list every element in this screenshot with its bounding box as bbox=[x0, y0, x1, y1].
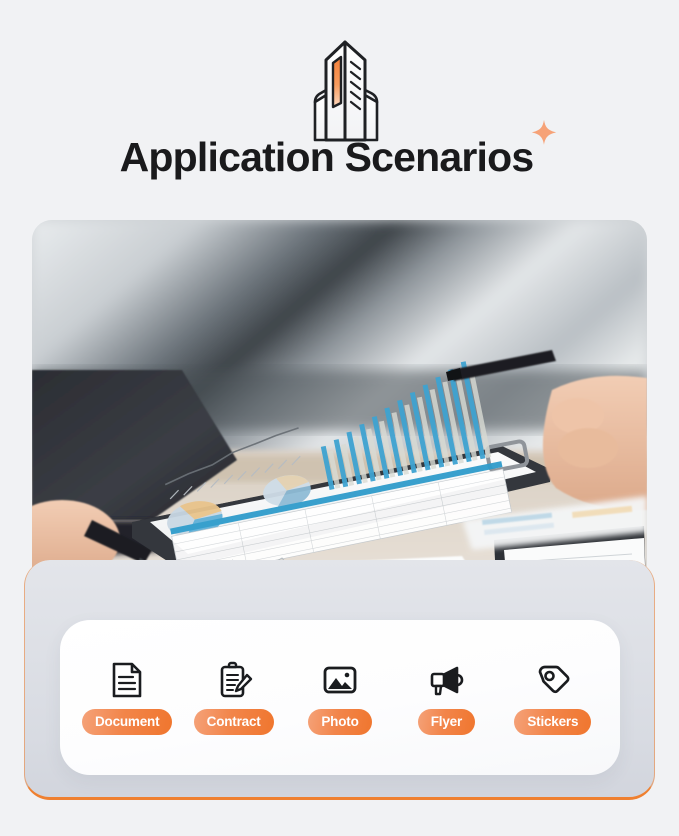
page-title: Application Scenarios bbox=[120, 132, 534, 182]
scenario-label-stickers: Stickers bbox=[514, 709, 591, 735]
image-icon bbox=[320, 660, 360, 700]
scenario-item-flyer[interactable]: Flyer bbox=[393, 660, 499, 735]
scenario-item-document[interactable]: Document bbox=[74, 660, 180, 735]
scenario-list: Document Contract bbox=[60, 620, 620, 775]
clipboard-pencil-icon bbox=[214, 660, 254, 700]
scenario-label-photo: Photo bbox=[308, 709, 371, 735]
building-icon bbox=[293, 36, 397, 144]
price-tag-icon bbox=[533, 660, 573, 700]
scenario-item-contract[interactable]: Contract bbox=[180, 660, 286, 735]
scenario-label-document: Document bbox=[82, 709, 172, 735]
scenario-label-flyer: Flyer bbox=[418, 709, 475, 735]
megaphone-icon bbox=[426, 660, 466, 700]
application-scenarios-page: Application Scenarios bbox=[0, 0, 679, 836]
sparkle-icon bbox=[529, 118, 559, 148]
scenario-item-stickers[interactable]: Stickers bbox=[500, 660, 606, 735]
header: Application Scenarios bbox=[0, 0, 679, 210]
page-title-row: Application Scenarios bbox=[0, 132, 679, 182]
scenario-card: Document Contract bbox=[60, 620, 620, 775]
document-icon bbox=[107, 660, 147, 700]
scenario-item-photo[interactable]: Photo bbox=[287, 660, 393, 735]
scenario-label-contract: Contract bbox=[194, 709, 274, 735]
